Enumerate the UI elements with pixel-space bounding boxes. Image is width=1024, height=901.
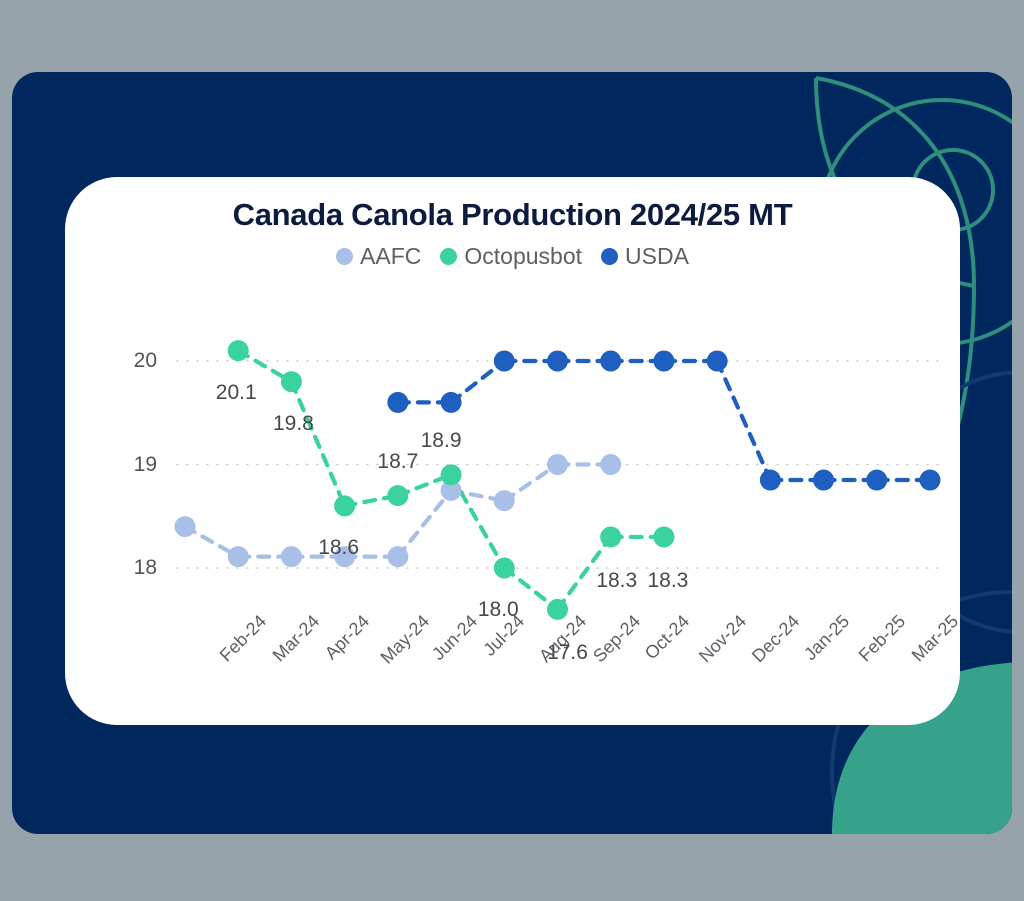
- data-label-octopusbot-1: 20.1: [216, 381, 257, 405]
- data-point-usda-4[interactable]: [387, 392, 408, 413]
- data-label-octopusbot-5: 18.9: [421, 429, 462, 453]
- data-point-usda-11[interactable]: [760, 470, 781, 491]
- y-axis-tick-20: 20: [111, 349, 157, 373]
- data-point-octopusbot-4[interactable]: [387, 485, 408, 506]
- data-point-aafc-7[interactable]: [547, 454, 568, 475]
- data-point-usda-10[interactable]: [707, 351, 728, 372]
- data-label-octopusbot-7: 17.6: [547, 641, 588, 665]
- data-point-octopusbot-7[interactable]: [547, 599, 568, 620]
- series-line-octopusbot: [291, 382, 344, 506]
- data-point-octopusbot-1[interactable]: [228, 340, 249, 361]
- data-point-usda-6[interactable]: [494, 351, 515, 372]
- data-point-usda-12[interactable]: [813, 470, 834, 491]
- chart-panel: Canada Canola Production 2024/25 MT AAFC…: [65, 177, 960, 725]
- data-point-octopusbot-8[interactable]: [600, 526, 621, 547]
- data-point-octopusbot-5[interactable]: [441, 464, 462, 485]
- series-line-usda: [717, 361, 770, 480]
- data-label-octopusbot-9: 18.3: [647, 569, 688, 593]
- data-label-octopusbot-2: 19.8: [273, 412, 314, 436]
- data-point-octopusbot-6[interactable]: [494, 558, 515, 579]
- data-point-usda-8[interactable]: [600, 351, 621, 372]
- data-point-usda-13[interactable]: [866, 470, 887, 491]
- data-point-octopusbot-3[interactable]: [334, 495, 355, 516]
- data-point-usda-9[interactable]: [653, 351, 674, 372]
- data-point-aafc-1[interactable]: [228, 546, 249, 567]
- data-label-octopusbot-6: 18.0: [478, 598, 519, 622]
- y-axis-tick-19: 19: [111, 453, 157, 477]
- plot-area: 181920Feb-24Mar-24Apr-24May-24Jun-24Jul-…: [65, 177, 960, 725]
- screenshot-root: Canada Canola Production 2024/25 MT AAFC…: [0, 0, 1024, 901]
- data-label-octopusbot-3: 18.6: [318, 536, 359, 560]
- y-axis-tick-18: 18: [111, 556, 157, 580]
- data-label-octopusbot-8: 18.3: [596, 569, 637, 593]
- data-point-octopusbot-9[interactable]: [653, 526, 674, 547]
- data-point-usda-5[interactable]: [441, 392, 462, 413]
- data-point-aafc-4[interactable]: [387, 546, 408, 567]
- data-point-aafc-8[interactable]: [600, 454, 621, 475]
- data-point-aafc-0[interactable]: [175, 516, 196, 537]
- data-point-usda-14[interactable]: [920, 470, 941, 491]
- data-point-octopusbot-2[interactable]: [281, 371, 302, 392]
- data-point-aafc-6[interactable]: [494, 490, 515, 511]
- data-point-usda-7[interactable]: [547, 351, 568, 372]
- data-point-aafc-2[interactable]: [281, 546, 302, 567]
- data-label-octopusbot-4: 18.7: [377, 450, 418, 474]
